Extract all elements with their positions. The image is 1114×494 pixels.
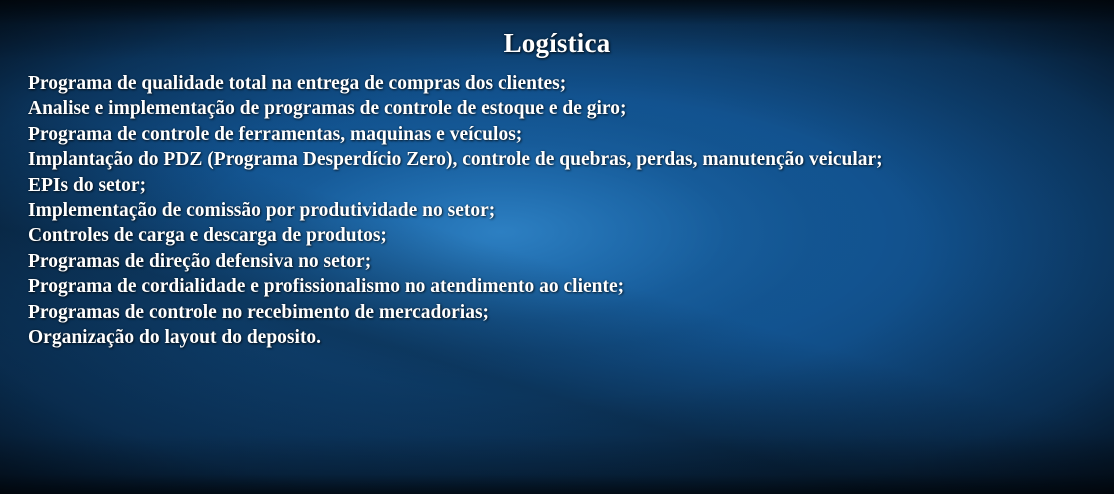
list-item: Programas de controle no recebimento de … — [28, 300, 1102, 325]
slide-bullet-list: Programa de qualidade total na entrega d… — [28, 71, 1102, 350]
list-item: Programa de controle de ferramentas, maq… — [28, 122, 1102, 147]
slide-title: Logística — [0, 28, 1114, 59]
list-item: Programa de qualidade total na entrega d… — [28, 71, 1102, 96]
presentation-slide: Logística Programa de qualidade total na… — [0, 0, 1114, 494]
list-item: Controles de carga e descarga de produto… — [28, 223, 1102, 248]
list-item: Implementação de comissão por produtivid… — [28, 198, 1102, 223]
list-item: Organização do layout do deposito. — [28, 325, 1102, 350]
slide-content: Logística Programa de qualidade total na… — [0, 0, 1114, 494]
list-item: Analise e implementação de programas de … — [28, 96, 1102, 121]
list-item: Programas de direção defensiva no setor; — [28, 249, 1102, 274]
list-item: Implantação do PDZ (Programa Desperdício… — [28, 147, 1102, 172]
list-item: Programa de cordialidade e profissionali… — [28, 274, 1102, 299]
list-item: EPIs do setor; — [28, 173, 1102, 198]
